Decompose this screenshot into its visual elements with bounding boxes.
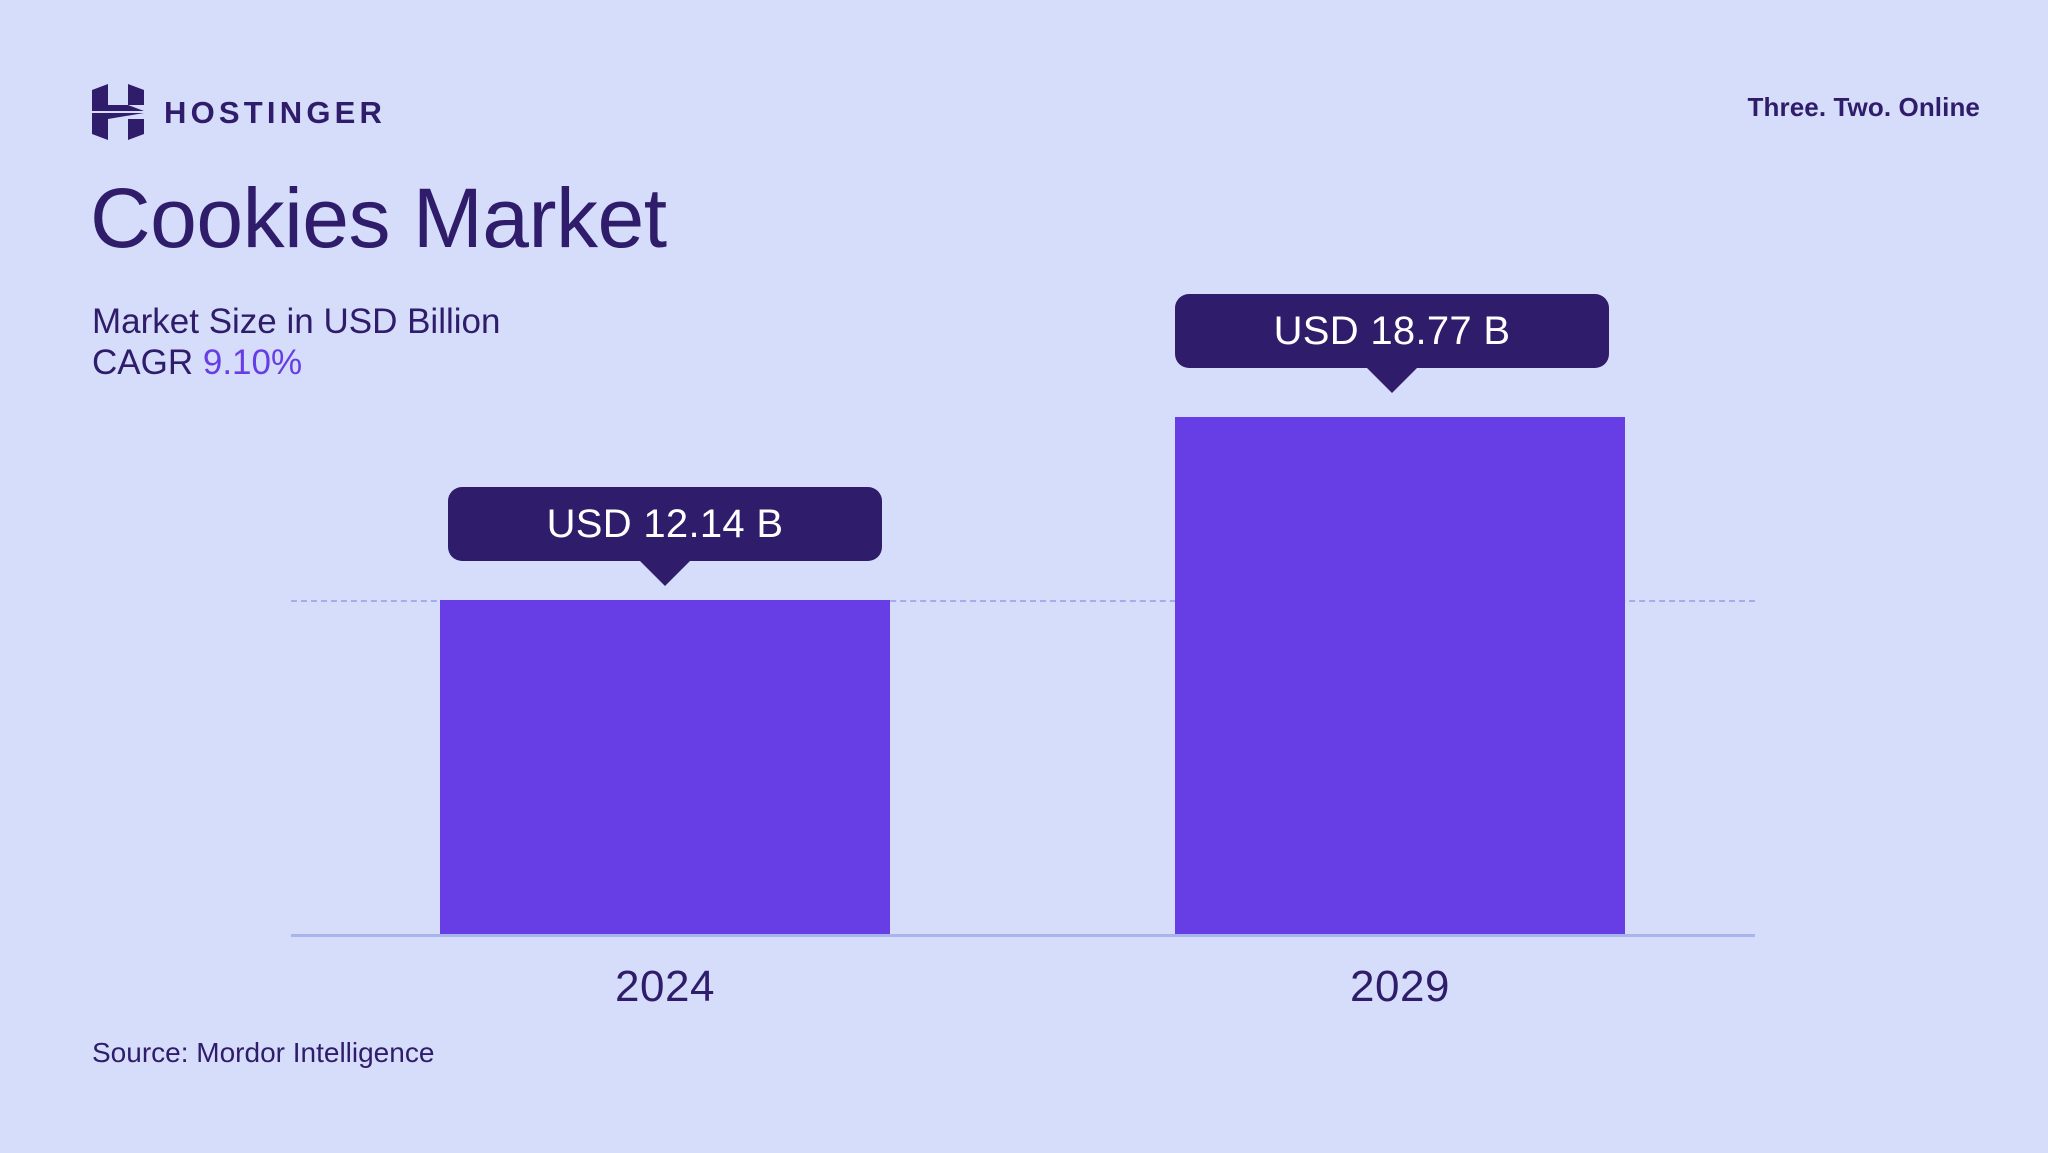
axis-tick-label-2024: 2024 bbox=[440, 962, 890, 1012]
callout-pointer-2024 bbox=[640, 561, 690, 586]
axis-tick-label-2029: 2029 bbox=[1175, 962, 1625, 1012]
callout-value-2024: USD 12.14 B bbox=[547, 502, 784, 547]
value-callout-2024: USD 12.14 B bbox=[448, 487, 882, 586]
bar-column-2029[interactable] bbox=[1175, 417, 1625, 934]
bar-column-2024[interactable] bbox=[440, 600, 890, 934]
bar-2024[interactable] bbox=[440, 600, 890, 934]
callout-bubble-2024: USD 12.14 B bbox=[448, 487, 882, 561]
source-note: Source: Mordor Intelligence bbox=[92, 1037, 434, 1069]
callout-bubble-2029: USD 18.77 B bbox=[1175, 294, 1609, 368]
callout-value-2029: USD 18.77 B bbox=[1274, 309, 1511, 354]
callout-pointer-2029 bbox=[1367, 368, 1417, 393]
bar-chart: USD 12.14 B USD 18.77 B 2024 2029 bbox=[0, 0, 2048, 1153]
axis-baseline bbox=[291, 934, 1755, 937]
value-callout-2029: USD 18.77 B bbox=[1175, 294, 1609, 393]
bar-2029[interactable] bbox=[1175, 417, 1625, 934]
